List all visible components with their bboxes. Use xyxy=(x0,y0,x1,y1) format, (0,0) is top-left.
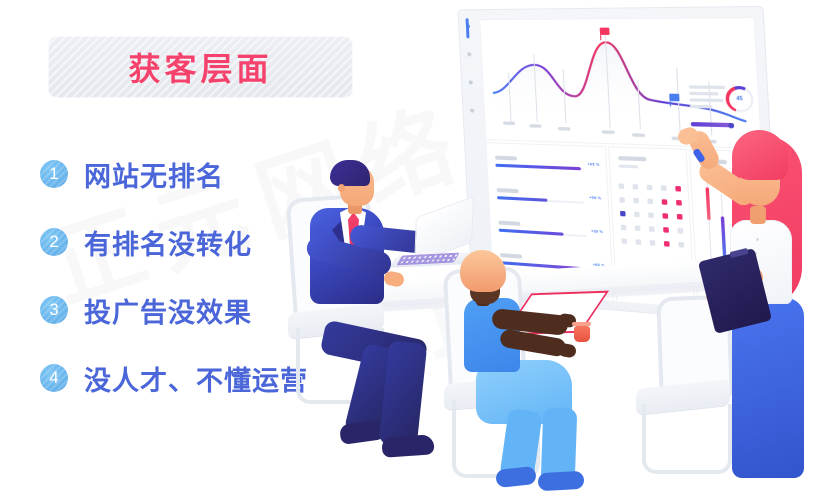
kpi-lines xyxy=(689,85,729,112)
bullet-label-3: 投广告没效果 xyxy=(84,291,252,330)
rail-dot-active[interactable] xyxy=(466,24,470,28)
center-shoe-front xyxy=(538,471,585,491)
calendar-subtitle-bar xyxy=(619,164,639,168)
rail-dot-3[interactable] xyxy=(469,80,473,84)
peak-flag-icon xyxy=(600,28,610,35)
bullet-number-3: 3 xyxy=(40,296,68,324)
woman-button-1 xyxy=(756,238,759,241)
man-hand-lower xyxy=(383,270,405,288)
bullet-label-1: 网站无排名 xyxy=(84,155,224,194)
calendar-grid xyxy=(619,183,689,252)
progress-row: +65 % xyxy=(495,156,598,181)
title-badge: 获客层面 xyxy=(48,36,353,98)
progress-value-1: +65 % xyxy=(587,162,599,167)
seated-person-figure xyxy=(446,250,646,500)
bullet-number-2: 2 xyxy=(40,228,68,256)
center-hand-lower xyxy=(557,343,577,359)
gauge-value: 45 xyxy=(736,96,743,103)
bullet-label-2: 有排名没转化 xyxy=(84,223,252,262)
man-shoe-front xyxy=(381,434,434,458)
progress-value-3: +38 % xyxy=(591,229,603,234)
presenter-woman-figure xyxy=(690,112,823,500)
illustration-canvas: 正元网络 正元网络 获客层面 1 网站无排名 2 有排名没转化 3 投广告没效果… xyxy=(0,0,823,500)
bullet-number-1: 1 xyxy=(40,160,68,188)
coffee-cup[interactable] xyxy=(574,326,590,342)
woman-hair-front xyxy=(732,130,788,180)
center-shoe-back xyxy=(495,466,537,488)
bullet-number-4: 4 xyxy=(40,364,68,392)
man-hair xyxy=(330,160,370,186)
page-title: 获客层面 xyxy=(128,44,272,90)
calendar-title-bar xyxy=(618,156,646,161)
man-ear xyxy=(338,184,345,192)
dip-flag-icon xyxy=(669,94,679,102)
progress-value-2: +59 % xyxy=(589,196,601,201)
center-hair xyxy=(460,250,506,292)
bullet-label-4: 没人才、不懂运营 xyxy=(84,359,308,398)
progress-row: +38 % xyxy=(498,221,601,248)
rail-dot-2[interactable] xyxy=(467,52,471,56)
rail-dot-4[interactable] xyxy=(470,109,474,113)
progress-row: +59 % xyxy=(497,188,600,214)
woman-neck xyxy=(750,206,766,224)
dashboard-sidebar-rail[interactable] xyxy=(463,18,480,119)
